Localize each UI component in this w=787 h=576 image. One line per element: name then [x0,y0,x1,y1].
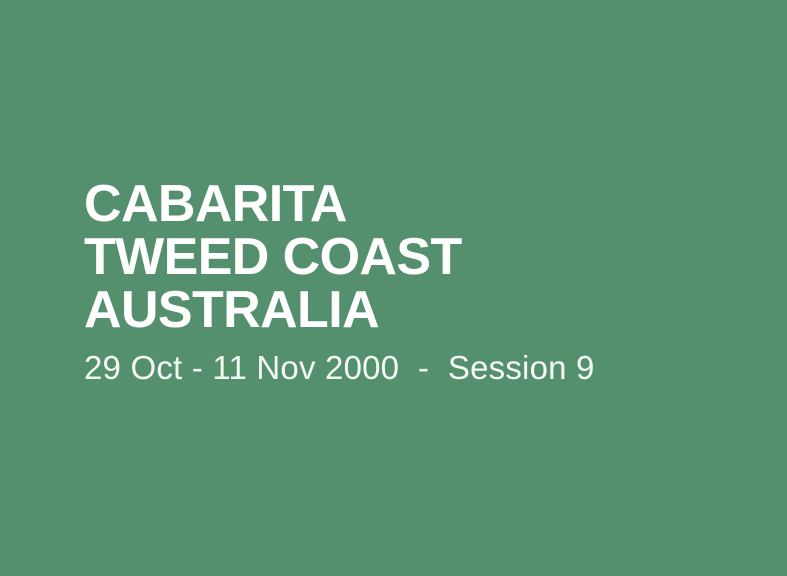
headline-line-country: AUSTRALIA [84,284,744,337]
page-title: CABARITA TWEED COAST AUSTRALIA [84,178,744,337]
headline-line-location: CABARITA [84,178,744,231]
headline-line-region: TWEED COAST [84,231,744,284]
title-slide: CABARITA TWEED COAST AUSTRALIA 29 Oct - … [0,0,787,576]
title-block: CABARITA TWEED COAST AUSTRALIA 29 Oct - … [84,178,744,387]
subtitle-date-session: 29 Oct - 11 Nov 2000 - Session 9 [84,349,744,387]
